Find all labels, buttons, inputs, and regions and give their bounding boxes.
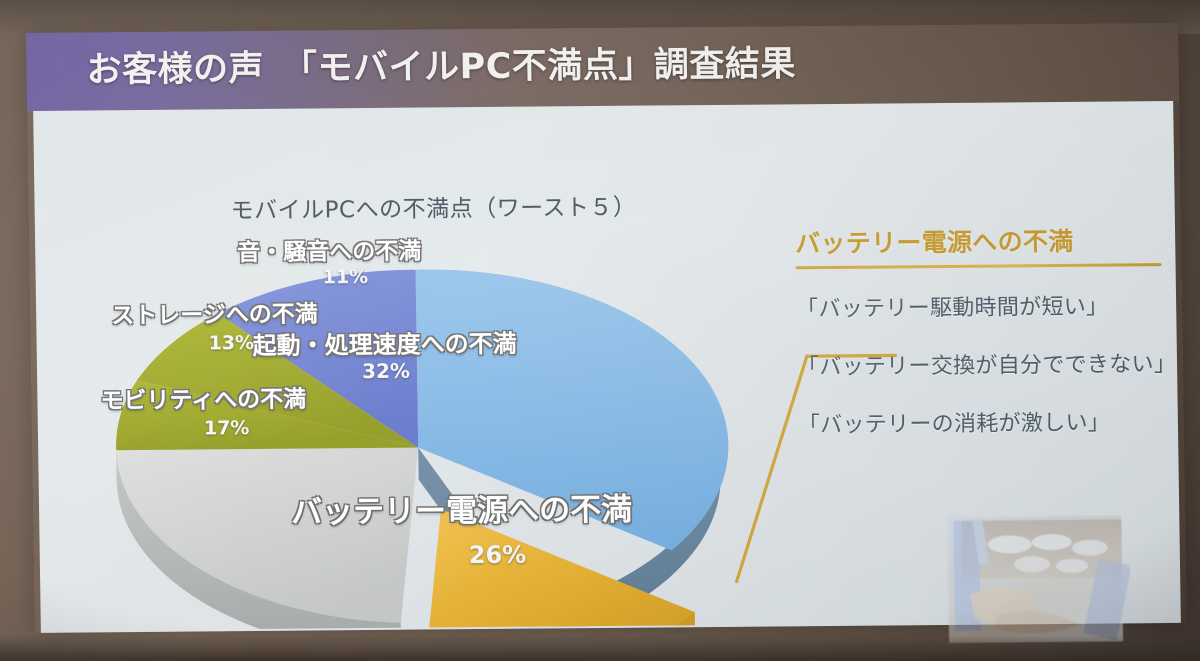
pie-value-storage: 13% <box>208 332 254 354</box>
callout-heading: バッテリー電源への不満 <box>795 221 1166 260</box>
pie-label-noise: 音・騒音への不満 <box>237 232 422 268</box>
projection-stage: お客様の声 「モバイルPC不満点」調査結果 モバイルPCへの不満点（ワースト５） <box>0 0 1200 661</box>
pie-slice-mobility <box>116 448 421 626</box>
pie-label-storage: ストレージへの不満 <box>111 294 318 330</box>
pie-value-speed: 32% <box>362 359 410 383</box>
slide-title-band: お客様の声 「モバイルPC不満点」調査結果 <box>26 23 1179 111</box>
pie-value-mobility: 17% <box>204 417 250 439</box>
page-title: お客様の声 「モバイルPC不満点」調査結果 <box>86 35 796 92</box>
pie-chart: 起動・処理速度への不満 32% バッテリー電源への不満 26% モビリティへの不… <box>65 205 771 631</box>
wall-bottom-shade <box>0 635 1200 661</box>
pie-value-battery: 26% <box>469 541 527 569</box>
photo-svg <box>939 501 1131 653</box>
callout-item-1: 「バッテリー駆動時間が短い」 <box>796 288 1166 323</box>
pie-label-speed: 起動・処理速度への不満 <box>252 324 517 361</box>
presentation-slide: お客様の声 「モバイルPC不満点」調査結果 モバイルPCへの不満点（ワースト５） <box>26 23 1187 633</box>
callout-list: 「バッテリー駆動時間が短い」 「バッテリー交換が自分でできない」 「バッテリーの… <box>796 288 1168 439</box>
pie-value-noise: 11% <box>322 266 368 288</box>
callout-panel: バッテリー電源への不満 「バッテリー駆動時間が短い」 「バッテリー交換が自分でで… <box>795 221 1169 465</box>
callout-item-3: 「バッテリーの消耗が激しい」 <box>798 404 1168 439</box>
laptop-typing-photo <box>939 501 1131 653</box>
callout-underline <box>796 263 1162 269</box>
slide-body: モバイルPCへの不満点（ワースト５） <box>33 101 1181 633</box>
callout-item-2: 「バッテリー交換が自分でできない」 <box>797 346 1167 381</box>
pie-label-battery: バッテリー電源への不満 <box>291 484 633 532</box>
pie-label-mobility: モビリティへの不満 <box>100 380 306 416</box>
pie-chart-svg <box>65 205 771 631</box>
